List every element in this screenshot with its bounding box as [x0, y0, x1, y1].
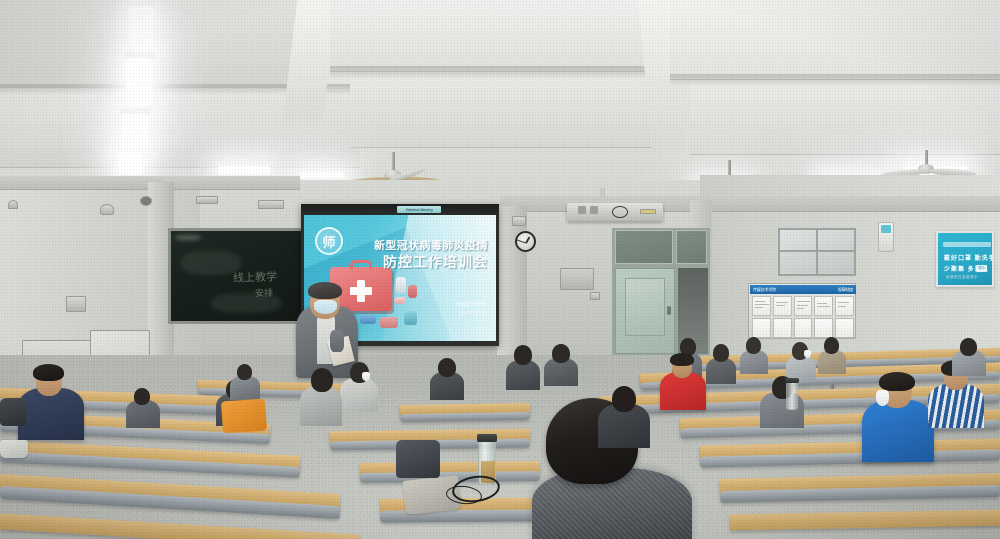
slide-title-line1: 新型冠状病毒肺炎疫情: [374, 239, 488, 253]
slide-title-line2: 防控工作培训会: [374, 253, 488, 272]
sanitizer-dispenser[interactable]: [878, 222, 894, 252]
wireless-mirroring-label: Wireless Mirroring: [397, 206, 441, 213]
desk-paper: [0, 440, 28, 458]
orange-tote-bag: [221, 399, 267, 434]
presenter-hair: [308, 282, 342, 299]
notice-item: [835, 296, 854, 316]
wall-sign: [560, 268, 594, 290]
wall-camera: [140, 196, 152, 206]
wall-clock: [515, 231, 536, 252]
wall-plaque: [512, 216, 526, 226]
pill-bottle-graphic: [396, 277, 406, 293]
ceiling-light: [118, 152, 142, 174]
notice-item: [773, 318, 792, 338]
ceiling-beam-shadow: [670, 74, 1000, 85]
wall-switch: [590, 292, 600, 300]
wall-pillar: [497, 206, 527, 356]
backpack: [0, 398, 26, 426]
bottle-cap: [477, 434, 497, 442]
pill-blister-graphic: [360, 315, 376, 324]
notice-item: [814, 318, 833, 338]
door-handle[interactable]: [667, 306, 671, 315]
pill-blister-graphic: [380, 317, 398, 328]
blackboard: 线上教学 安排: [168, 228, 304, 324]
notice-item: [835, 318, 854, 338]
ceiling-light: [129, 6, 153, 48]
wall-bracket: [258, 200, 284, 209]
medkit-handle: [350, 260, 372, 269]
door-transom-window: [676, 230, 707, 264]
ceiling-coffer: [350, 78, 670, 148]
ceiling-light: [122, 114, 148, 148]
blue-hoodie: [862, 400, 934, 462]
window-mullion: [816, 230, 818, 274]
wall-bracket: [196, 196, 218, 204]
pill-bottle-graphic: [408, 285, 417, 298]
ceiling-coffer: [670, 0, 1000, 80]
capsule-graphic: [394, 297, 406, 304]
notice-item: [814, 296, 833, 316]
projector-vent: [578, 206, 586, 214]
door-window: [625, 278, 665, 336]
ceiling-light: [126, 58, 152, 104]
striped-shirt: [928, 384, 984, 428]
notice-item: [773, 296, 792, 316]
presenter-face-mask: [314, 300, 337, 314]
face-mask: [876, 390, 889, 406]
notice-item: [794, 318, 813, 338]
desk-backpack: [396, 440, 440, 478]
chalk-text-line1: 线上教学: [233, 268, 278, 286]
chalk-text-line2: 安排: [255, 286, 273, 300]
slide-date: 2020年2月16日: [456, 309, 486, 316]
ceiling-coffer: [330, 0, 660, 72]
classroom-door[interactable]: [612, 228, 710, 356]
door-leaf[interactable]: [615, 268, 675, 354]
dispenser-label: [881, 225, 891, 233]
notice-board-grid: [752, 296, 854, 338]
notice-board-header: 传媒技术学院 规章制度: [750, 285, 856, 294]
poster-header-bar: [943, 242, 991, 247]
ceiling-coffer: [690, 85, 1000, 155]
notice-board: 传媒技术学院 规章制度: [748, 283, 856, 339]
university-logo: 师: [315, 227, 343, 255]
projector-lens: [640, 209, 656, 214]
poster-footer: 疫情防控温馨提示: [946, 275, 978, 280]
notice-item: [794, 296, 813, 316]
presenter-arm: [330, 330, 344, 352]
projector-cable: [612, 206, 628, 218]
door-transom-window: [615, 230, 673, 264]
projector-vent: [590, 206, 598, 214]
notice-item: [752, 296, 771, 316]
wall-speaker: [100, 204, 114, 215]
wall-bracket: [8, 200, 18, 209]
notice-board-title-left: 传媒技术学院: [753, 287, 776, 293]
notice-item: [752, 318, 771, 338]
wall-window: [778, 228, 856, 276]
logo-glyph: 师: [322, 232, 335, 251]
lecture-hall-photo: 线上教学 安排 Wireless Mirroring 师: [0, 0, 1000, 539]
window-mullion: [780, 250, 854, 252]
ceiling-beam-shadow: [330, 66, 660, 78]
poster-line-1: 戴好口罩 勤洗手: [944, 253, 994, 262]
clock-minute-hand: [517, 239, 526, 243]
covid-prevention-poster: 戴好口罩 勤洗手 少聚集 多通风 提示 疫情防控温馨提示: [936, 231, 994, 287]
wall-outlet-box: [66, 296, 86, 312]
ceiling-fan-rod: [392, 152, 395, 172]
ceiling-light: [300, 172, 344, 178]
ceiling-light: [218, 166, 270, 174]
water-bottle: [786, 382, 798, 410]
slide-subtitle: 传媒技术学院 2020年2月16日: [456, 301, 486, 316]
clock-hour-hand: [525, 237, 530, 244]
poster-badge: 提示: [976, 265, 987, 272]
slide-org-name: 传媒技术学院: [456, 301, 486, 309]
slide-title: 新型冠状病毒肺炎疫情 防控工作培训会: [374, 239, 488, 272]
bottle-cap: [785, 378, 799, 383]
medical-cross-icon: [350, 287, 372, 295]
medicine-box-graphic: [404, 311, 417, 325]
notice-board-title-right: 规章制度: [838, 287, 853, 293]
